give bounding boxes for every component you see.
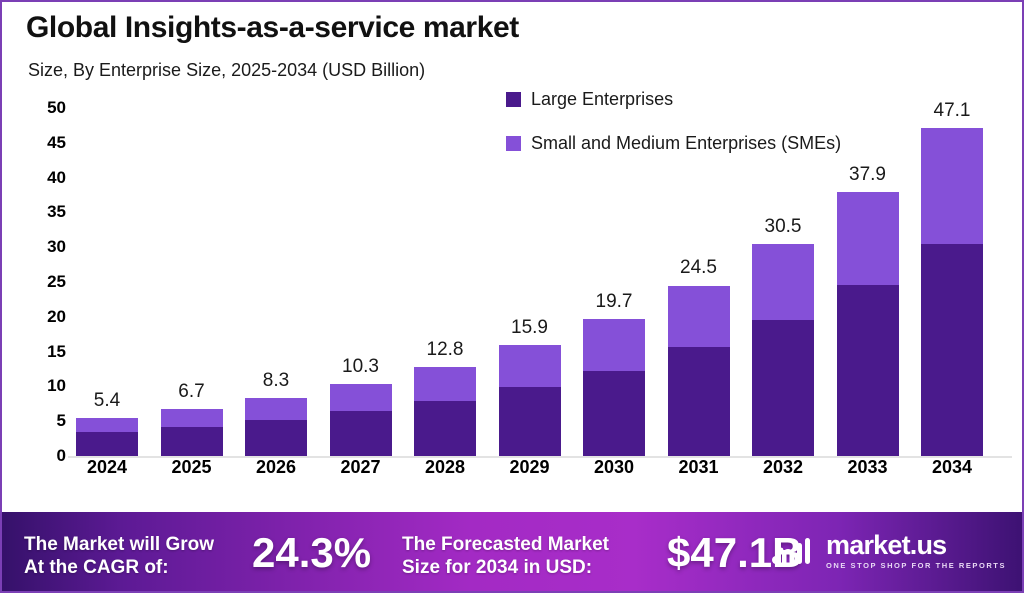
x-axis-tick: 2024 xyxy=(62,457,152,478)
x-axis-tick: 2034 xyxy=(907,457,997,478)
bar-value-label: 12.8 xyxy=(400,339,490,361)
bar-value-label: 19.7 xyxy=(569,291,659,313)
x-axis-tick: 2032 xyxy=(738,457,828,478)
stacked-bar[interactable] xyxy=(499,345,561,456)
x-axis-tick: 2025 xyxy=(147,457,237,478)
stacked-bar[interactable] xyxy=(668,286,730,457)
bar-segment-large-enterprises[interactable] xyxy=(161,427,223,456)
cagr-value: 24.3% xyxy=(252,529,371,577)
y-axis-tick: 20 xyxy=(20,307,66,327)
stacked-bar[interactable] xyxy=(76,418,138,456)
forecast-caption-line1: The Forecasted Market xyxy=(402,533,609,556)
y-axis-tick: 45 xyxy=(20,133,66,153)
bar-group[interactable]: 24.52031 xyxy=(668,2,730,472)
stacked-bar-chart: 05101520253035404550 5.420246.720258.320… xyxy=(2,2,1024,472)
bar-value-label: 37.9 xyxy=(823,164,913,186)
bar-segment-smes[interactable] xyxy=(668,286,730,348)
y-axis-tick: 35 xyxy=(20,202,66,222)
x-axis-tick: 2030 xyxy=(569,457,659,478)
y-axis: 05101520253035404550 xyxy=(20,2,66,472)
cagr-caption-line2: At the CAGR of: xyxy=(24,556,169,579)
bar-segment-large-enterprises[interactable] xyxy=(583,371,645,456)
bar-group[interactable]: 6.72025 xyxy=(161,2,223,472)
y-axis-tick: 40 xyxy=(20,168,66,188)
bar-value-label: 5.4 xyxy=(62,390,152,412)
bar-value-label: 24.5 xyxy=(654,257,744,279)
bar-segment-smes[interactable] xyxy=(583,319,645,371)
x-axis-tick: 2033 xyxy=(823,457,913,478)
stacked-bar[interactable] xyxy=(583,319,645,456)
infographic-frame: Global Insights-as-a-service market Size… xyxy=(0,0,1024,593)
bar-value-label: 30.5 xyxy=(738,216,828,238)
bar-value-label: 15.9 xyxy=(485,317,575,339)
bar-segment-large-enterprises[interactable] xyxy=(752,320,814,456)
bar-group[interactable]: 5.42024 xyxy=(76,2,138,472)
stacked-bar[interactable] xyxy=(245,398,307,456)
x-axis-tick: 2027 xyxy=(316,457,406,478)
forecast-caption-line2: Size for 2034 in USD: xyxy=(402,556,592,579)
bar-series-container: 5.420246.720258.3202610.3202712.8202815.… xyxy=(76,2,1012,472)
bar-segment-smes[interactable] xyxy=(921,128,983,244)
y-axis-tick: 0 xyxy=(20,446,66,466)
logo-name: market.us xyxy=(826,532,1006,559)
bar-value-label: 47.1 xyxy=(907,100,997,122)
bar-segment-smes[interactable] xyxy=(76,418,138,432)
market-us-logo[interactable]: market.us ONE STOP SHOP FOR THE REPORTS xyxy=(771,532,1006,570)
y-axis-tick: 50 xyxy=(20,98,66,118)
footer-banner: The Market will Grow At the CAGR of: 24.… xyxy=(2,512,1022,591)
y-axis-tick: 15 xyxy=(20,342,66,362)
bar-segment-smes[interactable] xyxy=(499,345,561,387)
y-axis-tick: 25 xyxy=(20,272,66,292)
bar-group[interactable]: 10.32027 xyxy=(330,2,392,472)
stacked-bar[interactable] xyxy=(921,128,983,456)
x-axis-tick: 2031 xyxy=(654,457,744,478)
y-axis-tick: 10 xyxy=(20,376,66,396)
y-axis-tick: 5 xyxy=(20,411,66,431)
market-us-logo-text-block: market.us ONE STOP SHOP FOR THE REPORTS xyxy=(826,532,1006,570)
bar-segment-large-enterprises[interactable] xyxy=(330,411,392,456)
stacked-bar[interactable] xyxy=(752,244,814,456)
stacked-bar[interactable] xyxy=(837,192,899,456)
stacked-bar[interactable] xyxy=(161,409,223,456)
cagr-caption-line1: The Market will Grow xyxy=(24,533,214,556)
x-axis-tick: 2026 xyxy=(231,457,321,478)
x-axis-tick: 2029 xyxy=(485,457,575,478)
bar-segment-large-enterprises[interactable] xyxy=(668,347,730,456)
stacked-bar[interactable] xyxy=(330,384,392,456)
bar-value-label: 6.7 xyxy=(147,381,237,403)
bar-segment-smes[interactable] xyxy=(245,398,307,420)
bar-segment-large-enterprises[interactable] xyxy=(76,432,138,456)
bar-group[interactable]: 8.32026 xyxy=(245,2,307,472)
bar-segment-large-enterprises[interactable] xyxy=(921,244,983,456)
market-us-logo-mark-icon xyxy=(771,535,817,567)
bar-group[interactable]: 30.52032 xyxy=(752,2,814,472)
stacked-bar[interactable] xyxy=(414,367,476,456)
bar-segment-large-enterprises[interactable] xyxy=(837,285,899,456)
bar-segment-large-enterprises[interactable] xyxy=(245,420,307,456)
bar-segment-large-enterprises[interactable] xyxy=(414,401,476,456)
bar-group[interactable]: 15.92029 xyxy=(499,2,561,472)
x-axis-tick: 2028 xyxy=(400,457,490,478)
bar-value-label: 8.3 xyxy=(231,370,321,392)
bar-group[interactable]: 19.72030 xyxy=(583,2,645,472)
logo-tagline: ONE STOP SHOP FOR THE REPORTS xyxy=(826,561,1006,570)
bar-segment-large-enterprises[interactable] xyxy=(499,387,561,456)
bar-segment-smes[interactable] xyxy=(837,192,899,285)
bar-segment-smes[interactable] xyxy=(330,384,392,411)
bar-group[interactable]: 37.92033 xyxy=(837,2,899,472)
bar-group[interactable]: 12.82028 xyxy=(414,2,476,472)
bar-segment-smes[interactable] xyxy=(414,367,476,401)
bar-group[interactable]: 47.12034 xyxy=(921,2,983,472)
bar-segment-smes[interactable] xyxy=(161,409,223,426)
bar-value-label: 10.3 xyxy=(316,356,406,378)
bar-segment-smes[interactable] xyxy=(752,244,814,320)
y-axis-tick: 30 xyxy=(20,237,66,257)
